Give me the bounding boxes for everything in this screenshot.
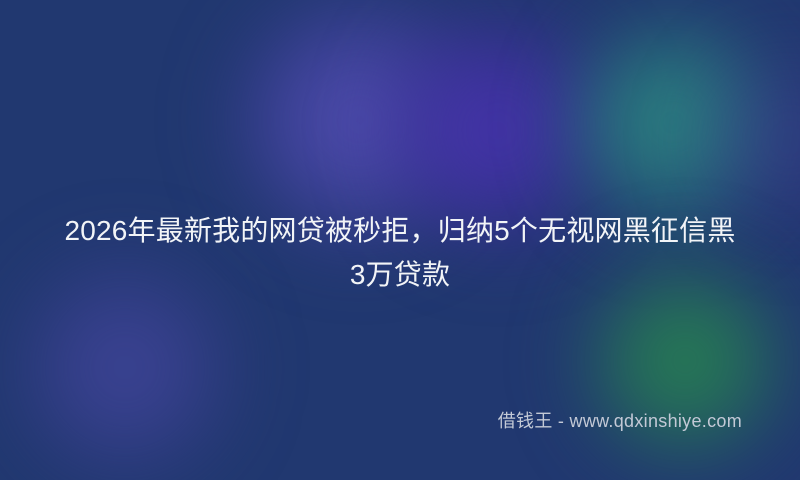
article-banner: 2026年最新我的网贷被秒拒，归纳5个无视网黑征信黑3万贷款 借钱王 - www… (0, 0, 800, 480)
background-blob-teal-glow (560, 5, 785, 240)
site-watermark: 借钱王 - www.qdxinshiye.com (0, 408, 742, 434)
banner-headline: 2026年最新我的网贷被秒拒，归纳5个无视网黑征信黑3万贷款 (0, 209, 800, 297)
